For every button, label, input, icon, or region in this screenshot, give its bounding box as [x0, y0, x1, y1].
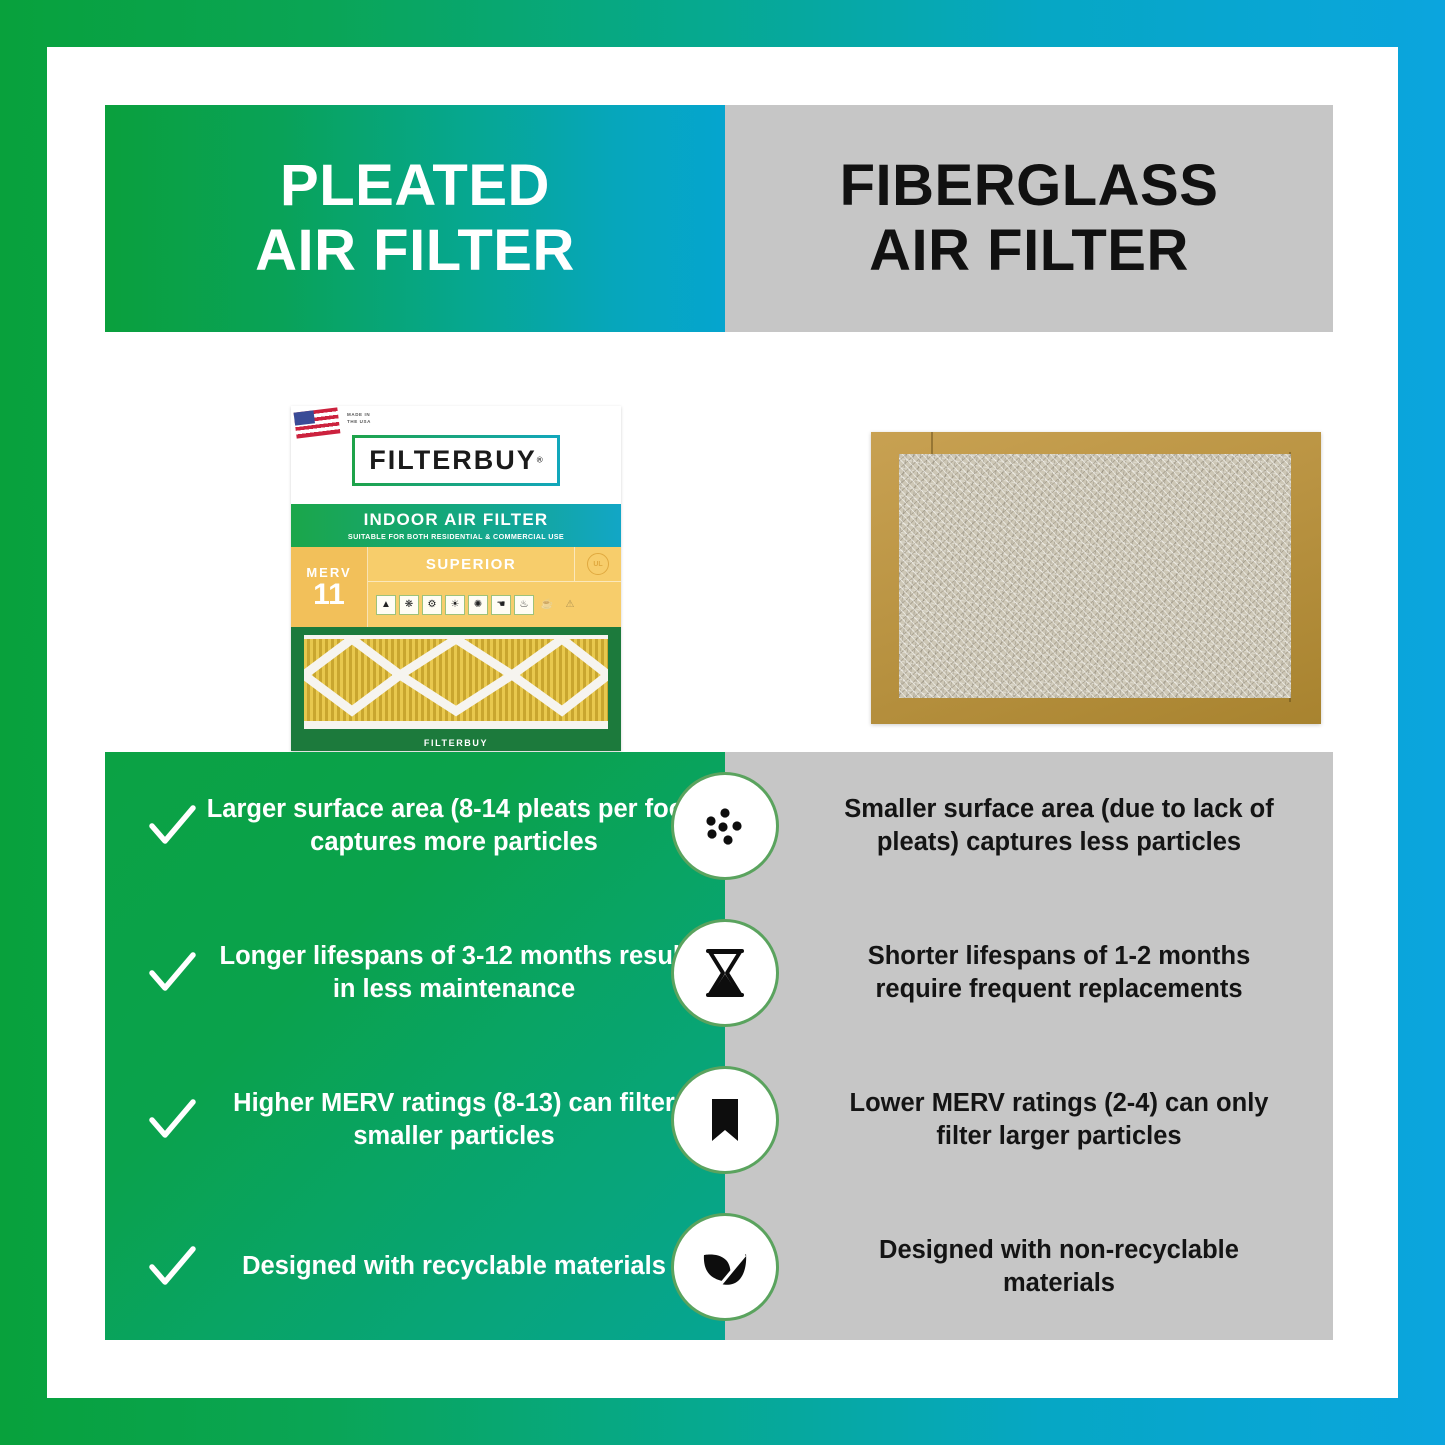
table-row: Shorter lifespans of 1-2 months require …: [725, 899, 1333, 1046]
pollen-icon: ✺: [468, 595, 488, 615]
header-pleated-line2: AIR FILTER: [255, 219, 575, 284]
table-row: Smaller surface area (due to lack of ple…: [725, 752, 1333, 899]
box-tier-row: SUPERIOR UL: [368, 547, 621, 582]
row-right-text: Shorter lifespans of 1-2 months require …: [821, 940, 1297, 1004]
usa-flag-icon: [294, 407, 341, 438]
box-tier-label: SUPERIOR: [368, 556, 574, 573]
row-right-text: Designed with non-recyclable materials: [821, 1234, 1297, 1298]
pleated-rows: Larger surface area (8-14 pleats per foo…: [105, 752, 725, 1340]
table-row: Longer lifespans of 3-12 months result i…: [105, 899, 725, 1046]
pleated-filter-box-image: MADE IN THE USA FILTERBUY® INDOOR AIR FI…: [291, 406, 621, 751]
fiberglass-media: [899, 454, 1291, 698]
header-pleated: PLEATED AIR FILTER: [105, 105, 725, 332]
odor-icon: ☕: [537, 595, 557, 615]
row-right-text: Lower MERV ratings (2-4) can only filter…: [821, 1087, 1297, 1151]
ul-seal-text: UL: [587, 553, 609, 575]
dust-icon: ▲: [376, 595, 396, 615]
smog-icon: ☀: [445, 595, 465, 615]
bookmark-icon: [671, 1066, 779, 1174]
box-mini-icon-strip: ▲ ❋ ⚙ ☀ ✺ ☚ ♨ ☕ ⚠: [368, 582, 621, 627]
row-left-text: Larger surface area (8-14 pleats per foo…: [205, 793, 703, 857]
comparison-table: Larger surface area (8-14 pleats per foo…: [105, 752, 1333, 1340]
smoke-icon: ♨: [514, 595, 534, 615]
infographic-poster: PLEATED AIR FILTER FIBERGLASS AIR FILTER…: [0, 0, 1445, 1445]
registered-mark: ®: [537, 455, 543, 464]
header-pleated-line1: PLEATED: [280, 153, 550, 218]
bacteria-icon: ❋: [399, 595, 419, 615]
header-fiberglass-line2: AIR FILTER: [840, 219, 1219, 284]
fiberglass-filter-image: [871, 432, 1321, 724]
merv-value: 11: [313, 580, 345, 610]
header-band: PLEATED AIR FILTER FIBERGLASS AIR FILTER: [105, 105, 1333, 332]
check-icon: [139, 1241, 205, 1293]
header-fiberglass: FIBERGLASS AIR FILTER: [725, 105, 1333, 332]
made-in-usa-label: MADE IN THE USA: [347, 412, 371, 426]
table-row: Lower MERV ratings (2-4) can only filter…: [725, 1046, 1333, 1193]
box-tier-area: SUPERIOR UL ▲ ❋ ⚙ ☀ ✺ ☚ ♨: [368, 547, 621, 627]
row-left-text: Higher MERV ratings (8-13) can filter sm…: [205, 1087, 703, 1151]
box-band-title: INDOOR AIR FILTER: [291, 510, 621, 530]
table-row: Higher MERV ratings (8-13) can filter sm…: [105, 1046, 725, 1193]
pleat-media: [304, 635, 608, 729]
box-band-subtitle: SUITABLE FOR BOTH RESIDENTIAL & COMMERCI…: [291, 532, 621, 541]
header-fiberglass-line1: FIBERGLASS: [840, 153, 1219, 218]
check-icon: [139, 947, 205, 999]
pleat-support-grid: [304, 635, 608, 729]
made-in-line1: MADE IN: [347, 412, 371, 419]
brand-name: FILTERBUY: [369, 445, 537, 475]
table-row: Designed with non-recyclable materials: [725, 1193, 1333, 1340]
header-fiberglass-text: FIBERGLASS AIR FILTER: [840, 154, 1219, 284]
row-left-text: Longer lifespans of 3-12 months result i…: [205, 940, 703, 1004]
table-row: Larger surface area (8-14 pleats per foo…: [105, 752, 725, 899]
header-pleated-text: PLEATED AIR FILTER: [255, 154, 575, 284]
fiberglass-rows: Smaller surface area (due to lack of ple…: [725, 752, 1333, 1340]
box-indoor-band: INDOOR AIR FILTER SUITABLE FOR BOTH RESI…: [291, 504, 621, 547]
box-top-section: MADE IN THE USA FILTERBUY®: [291, 406, 621, 504]
poster-canvas: PLEATED AIR FILTER FIBERGLASS AIR FILTER…: [47, 47, 1398, 1398]
made-in-line2: THE USA: [347, 419, 371, 426]
row-left-text: Designed with recyclable materials: [205, 1250, 703, 1282]
product-images-row: MADE IN THE USA FILTERBUY® INDOOR AIR FI…: [105, 332, 1333, 752]
box-filter-photo: FILTERBUY: [291, 627, 621, 751]
table-row: Designed with recyclable materials: [105, 1193, 725, 1340]
particles-icon: [671, 772, 779, 880]
gas-icon: ⚠: [560, 595, 580, 615]
ul-seal-icon: UL: [574, 547, 621, 581]
comparison-column-fiberglass: Smaller surface area (due to lack of ple…: [725, 752, 1333, 1340]
merv-badge: MERV 11: [291, 547, 368, 627]
comparison-column-pleated: Larger surface area (8-14 pleats per foo…: [105, 752, 725, 1340]
check-icon: [139, 1094, 205, 1146]
row-right-text: Smaller surface area (due to lack of ple…: [821, 793, 1297, 857]
hourglass-icon: [671, 919, 779, 1027]
box-merv-section: MERV 11 SUPERIOR UL ▲ ❋ ⚙: [291, 547, 621, 627]
box-footer-brand: FILTERBUY: [291, 738, 621, 748]
pet-dander-icon: ☚: [491, 595, 511, 615]
virus-icon: ⚙: [422, 595, 442, 615]
check-icon: [139, 800, 205, 852]
leaf-icon: [671, 1213, 779, 1321]
frame-seam-left: [931, 432, 933, 454]
brand-logo-frame: FILTERBUY®: [352, 435, 559, 486]
